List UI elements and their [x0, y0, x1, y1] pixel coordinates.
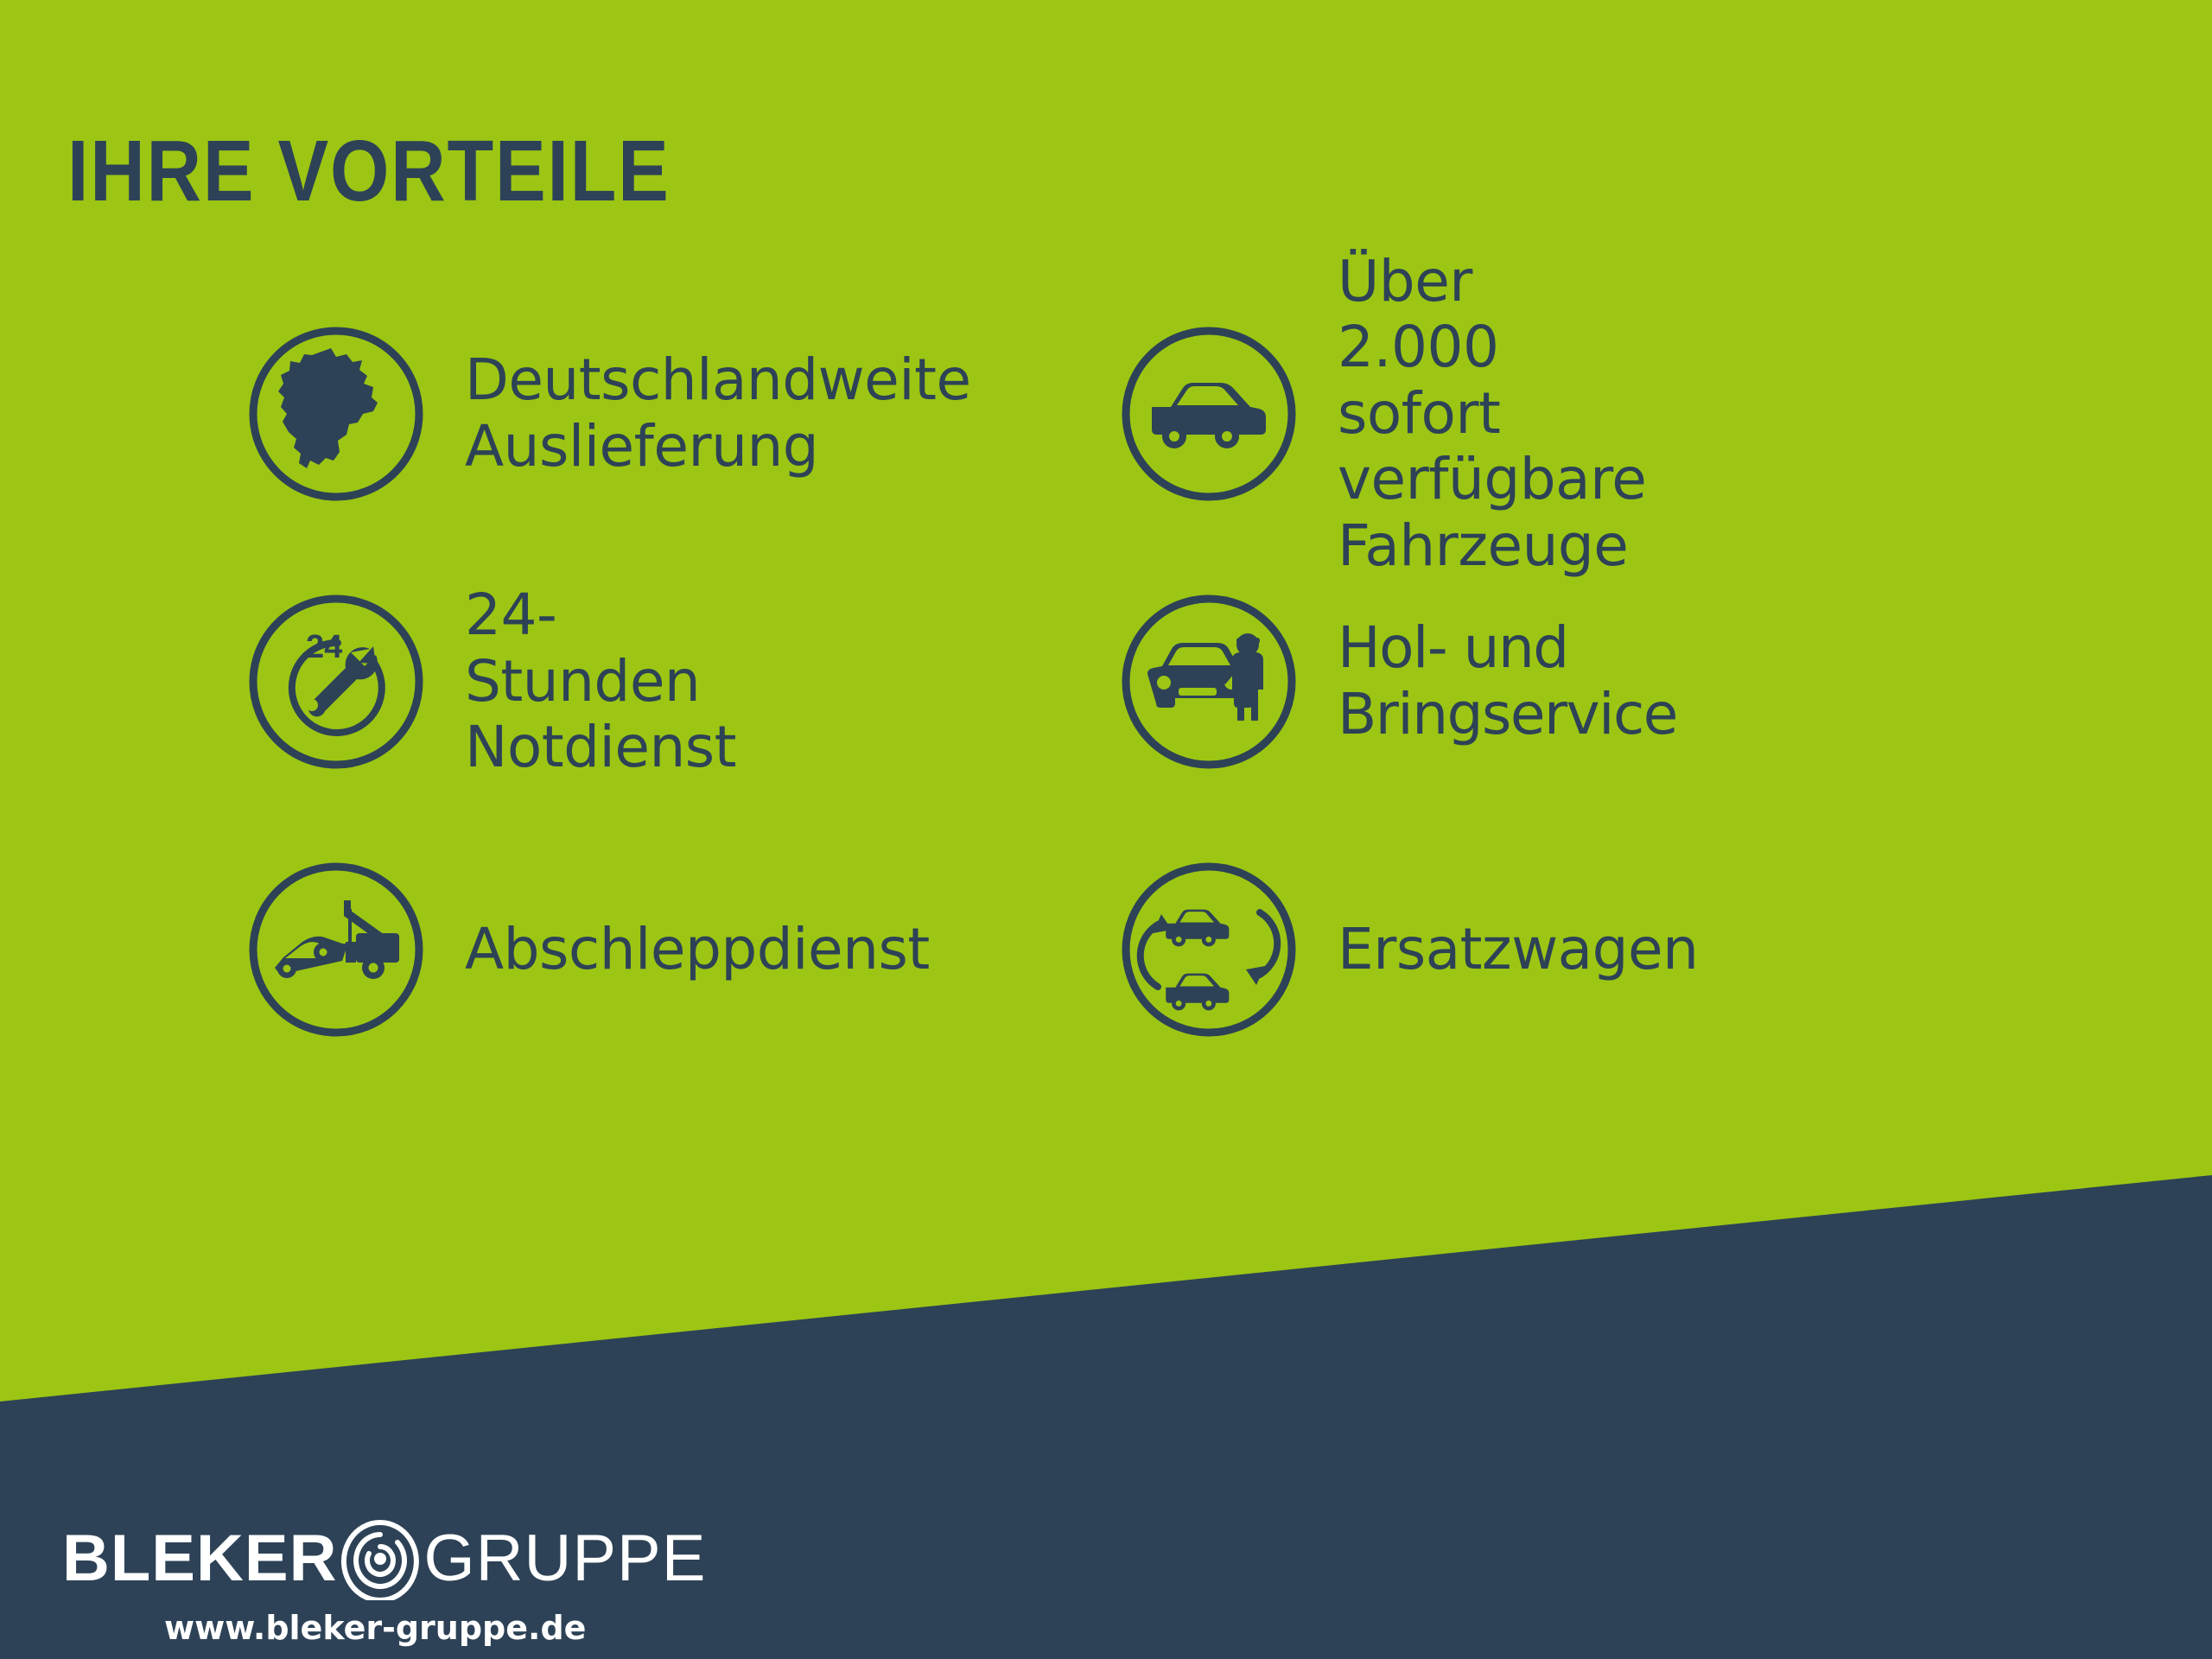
logo-name-light: GRUPPE [423, 1526, 706, 1592]
benefit-label: 24-Stunden Notdienst [465, 582, 736, 781]
benefit-label: Deutschlandweite Auslieferung [465, 347, 971, 480]
benefit-label: Hol- und Bringservice [1338, 615, 1677, 747]
car-with-driver-icon [1116, 589, 1301, 774]
logo-wordmark: BLEKER GRUPPE [62, 1519, 667, 1599]
benefit-item: Ersatzwagen [1116, 857, 1698, 1042]
logo-name-bold: BLEKER [62, 1526, 337, 1592]
benefit-item: 24 24-Stunden Notdienst [244, 589, 736, 774]
car-side-icon [1116, 321, 1301, 506]
slide-root: IHRE VORTEILE Deutschlandweite Ausliefer… [0, 0, 2212, 1659]
spiral-icon [339, 1517, 422, 1600]
benefit-label: Über 2.000 sofort verfügbare Fahrzeuge [1338, 249, 1646, 580]
tow-truck-icon [244, 857, 429, 1042]
two-cars-exchange-icon [1116, 857, 1301, 1042]
benefit-item: Über 2.000 sofort verfügbare Fahrzeuge [1116, 321, 1646, 506]
24-hour-wrench-icon: 24 [244, 589, 429, 774]
page-title: IHRE VORTEILE [67, 128, 671, 214]
benefit-label: Ersatzwagen [1338, 917, 1698, 983]
benefit-item: Deutschlandweite Auslieferung [244, 321, 971, 506]
benefit-label: Abschleppdienst [465, 917, 930, 983]
svg-text:24: 24 [306, 629, 342, 665]
germany-map-icon [244, 321, 429, 506]
footer-logo[interactable]: BLEKER GRUPPE www.bleker-gruppe.de [62, 1519, 667, 1647]
benefit-item: Hol- und Bringservice [1116, 589, 1677, 774]
benefit-item: Abschleppdienst [244, 857, 930, 1042]
website-url[interactable]: www.bleker-gruppe.de [164, 1609, 667, 1647]
